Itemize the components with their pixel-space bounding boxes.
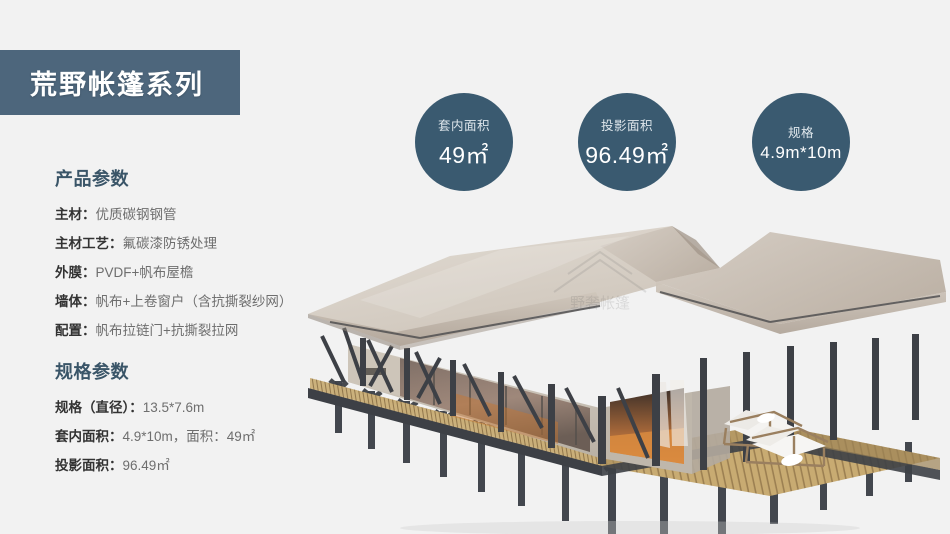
page-title: 荒野帐篷系列 (0, 63, 204, 102)
param-value: 帆布+上卷窗户（含抗撕裂纱网） (96, 294, 293, 309)
product-section-title: 产品参数 (55, 165, 345, 191)
param-key: 规格（直径）： (55, 400, 143, 415)
param-value: 4.9*10m，面积：49㎡ (123, 429, 256, 444)
stat-circle-dimensions: 规格 4.9m*10m (752, 93, 850, 191)
watermark-text: 野奢帐篷 (570, 294, 630, 312)
param-value: PVDF+帆布屋檐 (96, 265, 194, 280)
param-key: 外膜： (55, 265, 96, 280)
slide-root: 荒野帐篷系列 产品参数 主材：优质碳钢钢管 主材工艺：氟碳漆防锈处理 外膜：PV… (0, 0, 950, 534)
stat-label: 投影面积 (601, 115, 653, 134)
title-banner: 荒野帐篷系列 (0, 50, 240, 115)
stat-value: 4.9m*10m (760, 143, 841, 163)
param-value: 13.5*7.6m (143, 400, 205, 415)
param-key: 墙体： (55, 294, 96, 309)
param-value: 氟碳漆防锈处理 (123, 236, 218, 251)
stat-circle-projected-area: 投影面积 96.49㎡ (578, 93, 676, 191)
stat-label: 套内面积 (438, 115, 490, 134)
stat-circle-interior-area: 套内面积 49㎡ (415, 93, 513, 191)
stat-label: 规格 (788, 122, 814, 141)
param-key: 投影面积： (55, 458, 123, 473)
param-key: 套内面积： (55, 429, 123, 444)
param-key: 主材： (55, 207, 96, 222)
param-value: 优质碳钢钢管 (96, 207, 177, 222)
stat-value: 49㎡ (439, 136, 489, 170)
param-value: 96.49㎡ (123, 458, 170, 473)
tent-product-image: 野奢帐篷 (300, 196, 950, 534)
param-key: 主材工艺： (55, 236, 123, 251)
param-value: 帆布拉链门+抗撕裂拉网 (96, 323, 239, 338)
param-key: 配置： (55, 323, 96, 338)
stat-value: 96.49㎡ (585, 136, 669, 170)
